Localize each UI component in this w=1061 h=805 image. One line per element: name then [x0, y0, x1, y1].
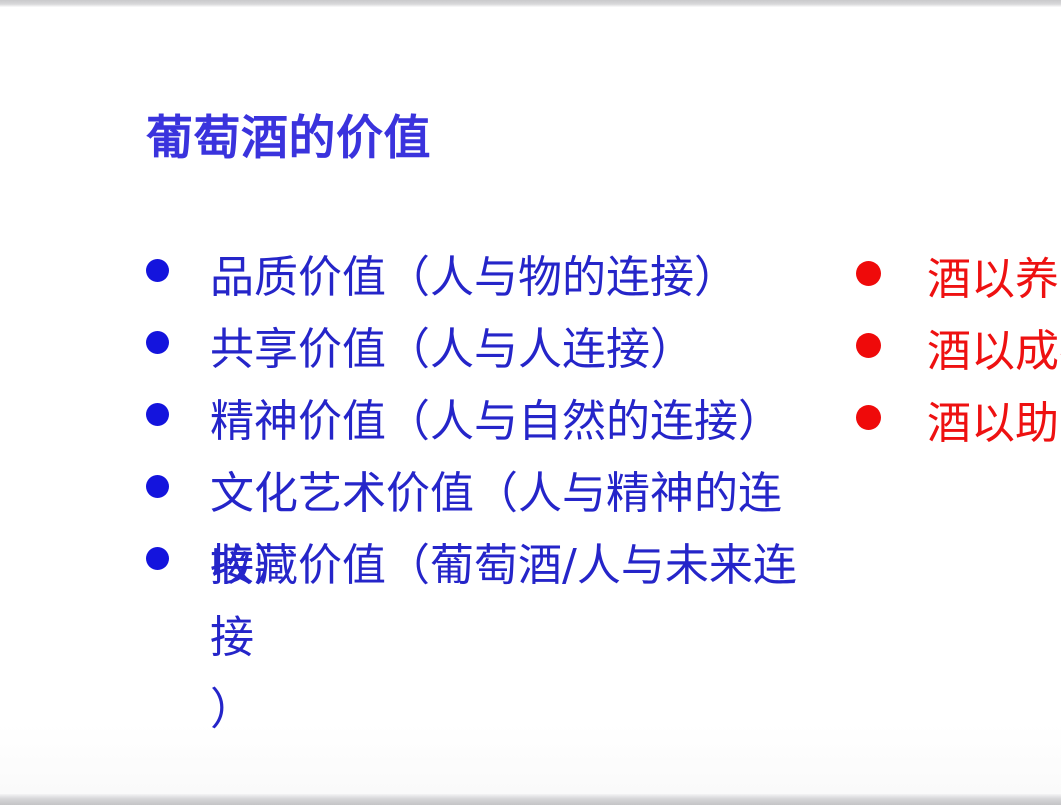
list-item: 共享价值（人与人连接）: [146, 314, 846, 386]
list-item-label: 品质价值（人与物的连接）: [210, 242, 738, 314]
list-item-label: 酒以助兴: [927, 388, 1061, 460]
list-item: 酒以养生: [856, 244, 1061, 316]
list-item-label: 共享价值（人与人连接）: [210, 314, 694, 386]
slide-canvas: 葡萄酒的价值 品质价值（人与物的连接） 共享价值（人与人连接） 精神价值（人与自…: [0, 0, 1061, 805]
list-item: 品质价值（人与物的连接）: [146, 242, 846, 314]
bullet-dot-icon: [856, 261, 881, 286]
list-item-label: 酒以成礼: [927, 316, 1061, 388]
bullet-dot-icon: [146, 547, 169, 570]
list-item-label: 收藏价值（葡萄酒/人与未来连接 ）: [210, 530, 810, 746]
red-bullet-list: 酒以养生 酒以成礼 酒以助兴: [856, 244, 1061, 460]
page-title: 葡萄酒的价值: [146, 113, 431, 166]
bullet-dot-icon: [146, 331, 169, 354]
viewer-top-edge: [0, 0, 1061, 7]
list-item-label: 精神价值（人与自然的连接）: [210, 386, 782, 458]
bullet-dot-icon: [856, 405, 881, 430]
bullet-dot-icon: [146, 475, 169, 498]
list-item: 收藏价值（葡萄酒/人与未来连接 ）: [146, 530, 846, 674]
list-item: 文化艺术价值（人与精神的连接）: [146, 458, 846, 530]
bullet-dot-icon: [146, 259, 169, 282]
list-item: 酒以成礼: [856, 316, 1061, 388]
bullet-dot-icon: [146, 403, 169, 426]
blue-bullet-list: 品质价值（人与物的连接） 共享价值（人与人连接） 精神价值（人与自然的连接） 文…: [146, 242, 846, 674]
list-item: 精神价值（人与自然的连接）: [146, 386, 846, 458]
list-item-label: 酒以养生: [927, 244, 1061, 316]
list-item: 酒以助兴: [856, 388, 1061, 460]
viewer-bottom-edge: [0, 794, 1061, 805]
bullet-dot-icon: [856, 333, 881, 358]
